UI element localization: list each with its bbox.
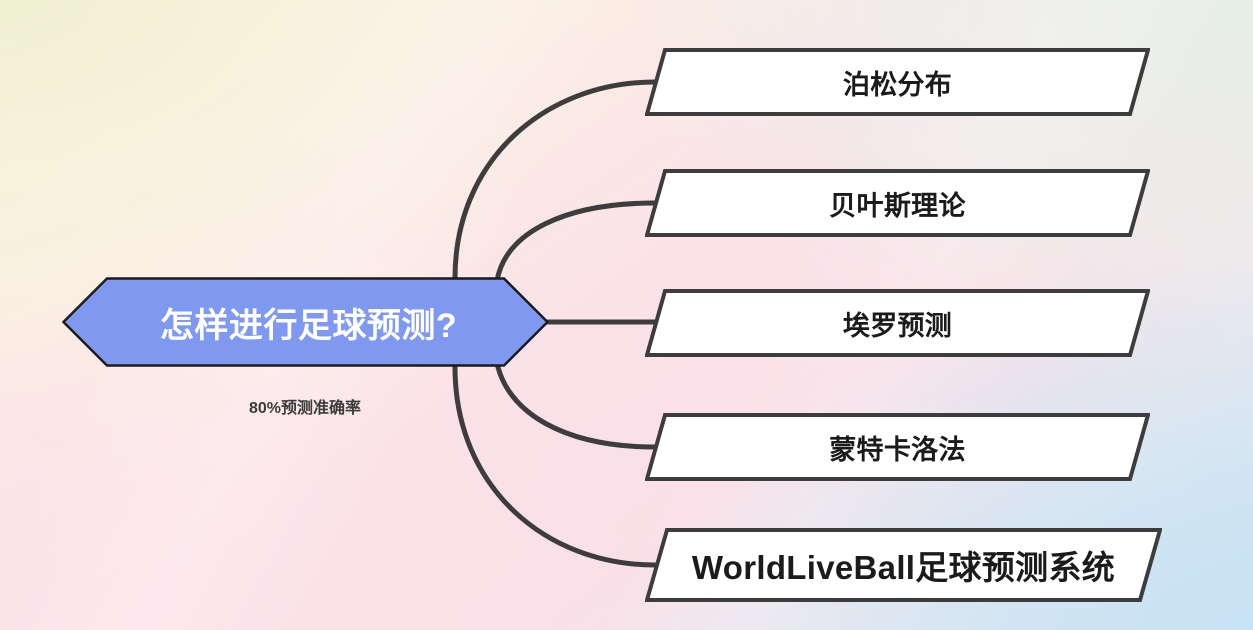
connector-line-1 [455, 82, 655, 278]
branch-label-2: 贝叶斯理论 [829, 184, 966, 223]
branch-label-4: 蒙特卡洛法 [829, 428, 966, 467]
branch-node-4[interactable]: 蒙特卡洛法 [645, 413, 1150, 481]
connector-line-5 [455, 367, 655, 565]
center-node-label: 怎样进行足球预测? [62, 277, 549, 367]
mindmap-canvas: 怎样进行足球预测? 80%预测准确率 泊松分布 贝叶斯理论 埃罗预测 [0, 0, 1253, 630]
branch-node-3[interactable]: 埃罗预测 [645, 289, 1150, 357]
branch-label-3: 埃罗预测 [843, 304, 952, 343]
branch-node-2[interactable]: 贝叶斯理论 [645, 169, 1150, 237]
connector-line-4 [497, 363, 655, 447]
branch-node-5[interactable]: WorldLiveBall足球预测系统 [645, 528, 1162, 602]
branch-label-1: 泊松分布 [843, 63, 952, 102]
connector-line-2 [497, 203, 655, 281]
center-node[interactable]: 怎样进行足球预测? [62, 277, 549, 367]
branch-label-5: WorldLiveBall足球预测系统 [692, 541, 1115, 589]
center-node-caption: 80%预测准确率 [180, 394, 430, 418]
branch-node-1[interactable]: 泊松分布 [645, 48, 1150, 116]
